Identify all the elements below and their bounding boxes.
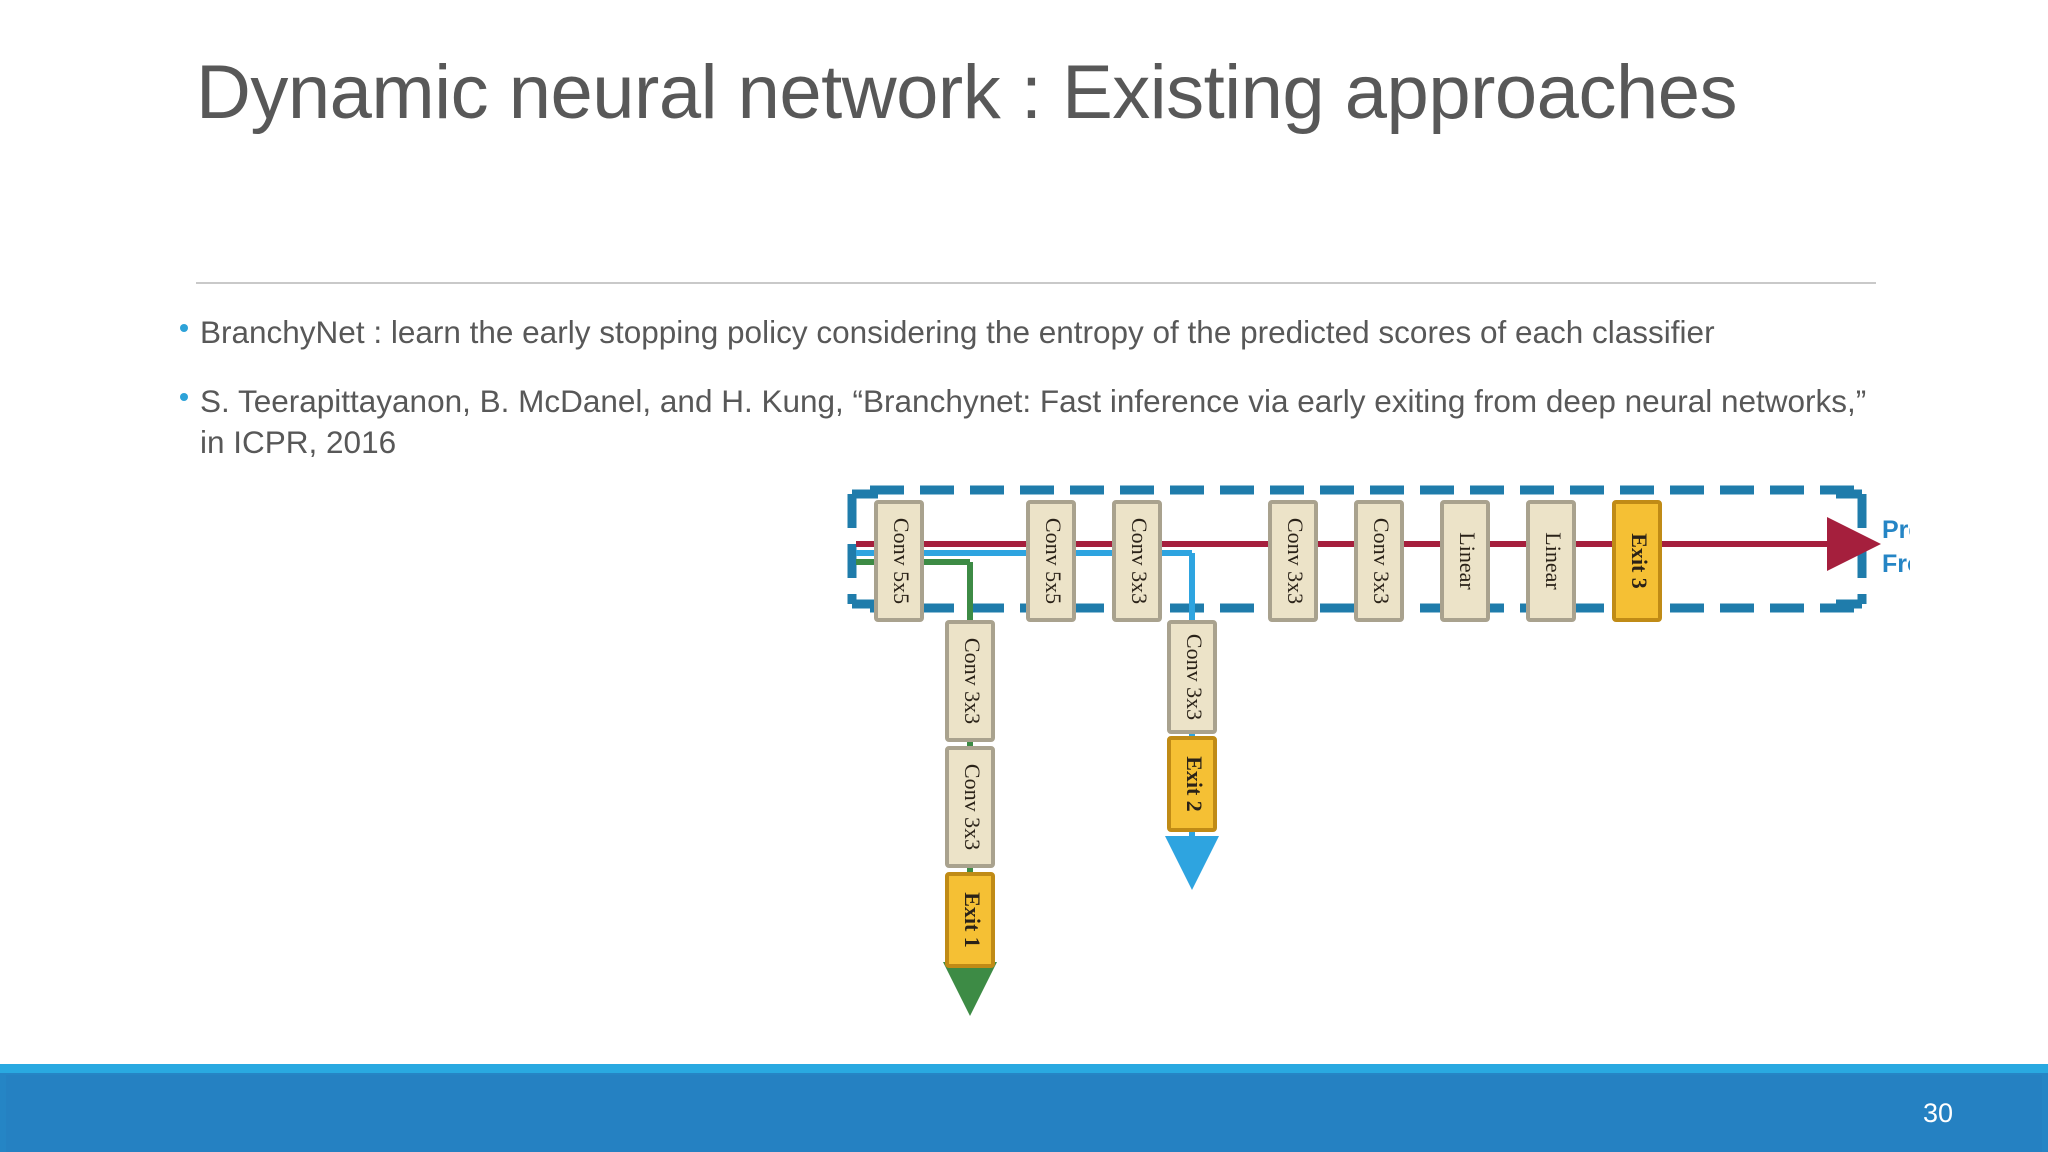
bullet-list: BranchyNet : learn the early stopping po… <box>178 312 1898 491</box>
block-conv-3x3-1[interactable]: Conv 3x3 <box>1114 502 1160 620</box>
block-label: Conv 3x3 <box>1369 518 1394 604</box>
branch-2: Conv 3x3 Exit 2 <box>1169 620 1215 842</box>
block-linear-1[interactable]: Linear <box>1442 502 1488 620</box>
branch1-block-conv-3x3-2[interactable]: Conv 3x3 <box>947 748 993 866</box>
branch2-block-exit-2[interactable]: Exit 2 <box>1169 738 1215 830</box>
footer-accent-strip <box>0 1064 2048 1073</box>
block-label: Conv 3x3 <box>960 638 985 724</box>
block-label: Conv 3x3 <box>1283 518 1308 604</box>
block-conv-5x5-2[interactable]: Conv 5x5 <box>1028 502 1074 620</box>
block-linear-2[interactable]: Linear <box>1528 502 1574 620</box>
page-number: 30 <box>1923 1098 1953 1129</box>
bullet-dot-icon <box>180 324 188 332</box>
bullet-text: S. Teerapittayanon, B. McDanel, and H. K… <box>200 383 1866 460</box>
block-label: Conv 5x5 <box>1041 518 1066 604</box>
page-title: Dynamic neural network : Existing approa… <box>196 52 1896 133</box>
block-label: Exit 1 <box>960 892 985 948</box>
footer-band-inner <box>6 1075 2042 1152</box>
branchynet-architecture-diagram: Conv 5x5 Conv 5x5 Conv 3x3 Conv 3x3 Conv… <box>830 480 1910 1060</box>
branch2-block-conv-3x3[interactable]: Conv 3x3 <box>1169 622 1215 732</box>
branch1-block-exit-1[interactable]: Exit 1 <box>947 874 993 966</box>
list-item: S. Teerapittayanon, B. McDanel, and H. K… <box>178 381 1898 463</box>
bullet-text: BranchyNet : learn the early stopping po… <box>200 314 1715 350</box>
pretrained-frozen-label-line2: Frozen <box>1882 550 1910 578</box>
main-row-blocks: Conv 5x5 Conv 5x5 Conv 3x3 Conv 3x3 Conv… <box>876 502 1660 620</box>
main-signal-paths <box>856 544 1833 562</box>
branch1-block-conv-3x3-1[interactable]: Conv 3x3 <box>947 622 993 740</box>
footer-band <box>0 1073 2048 1152</box>
bullet-dot-icon <box>180 393 188 401</box>
branch-1: Conv 3x3 Conv 3x3 Exit 1 <box>947 620 993 968</box>
block-label: Conv 3x3 <box>1127 518 1152 604</box>
block-label: Conv 3x3 <box>1182 634 1207 720</box>
block-label: Linear <box>1455 532 1480 590</box>
block-label: Exit 2 <box>1182 756 1207 812</box>
block-exit-3[interactable]: Exit 3 <box>1614 502 1660 620</box>
list-item: BranchyNet : learn the early stopping po… <box>178 312 1898 353</box>
title-divider <box>196 282 1876 284</box>
block-label: Exit 3 <box>1627 533 1652 589</box>
block-label: Conv 3x3 <box>960 764 985 850</box>
pretrained-frozen-label-line1: Pretrained & <box>1882 516 1910 544</box>
block-conv-3x3-2[interactable]: Conv 3x3 <box>1270 502 1316 620</box>
block-conv-3x3-3[interactable]: Conv 3x3 <box>1356 502 1402 620</box>
block-conv-5x5-1[interactable]: Conv 5x5 <box>876 502 922 620</box>
block-label: Linear <box>1541 532 1566 590</box>
block-label: Conv 5x5 <box>889 518 914 604</box>
slide: Dynamic neural network : Existing approa… <box>0 0 2048 1152</box>
